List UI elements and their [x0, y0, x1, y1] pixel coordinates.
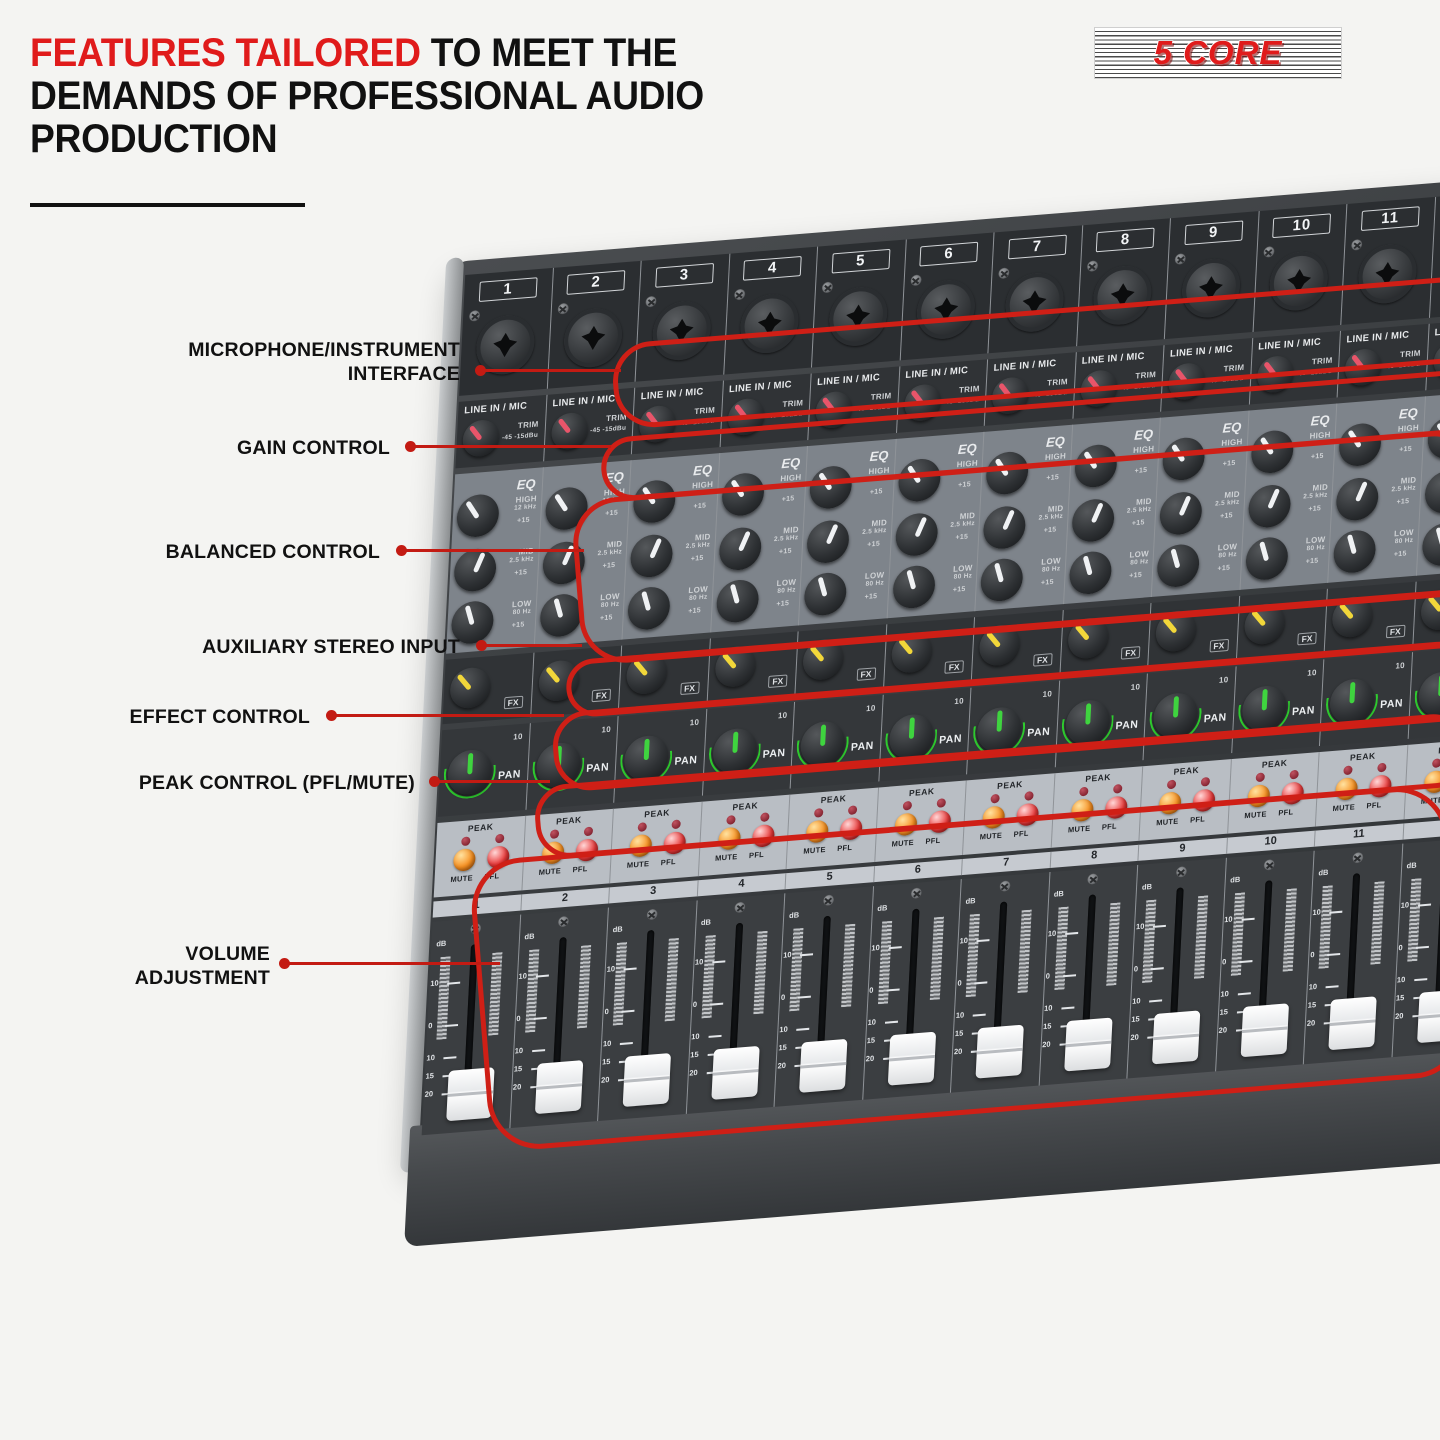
eq-mid-knob[interactable] — [1071, 498, 1115, 544]
fader-tick-label: 20 — [777, 1061, 786, 1071]
gain-trim-knob[interactable] — [1079, 369, 1117, 408]
mute-button[interactable] — [806, 820, 829, 844]
eq-low-freq: 80 Hz — [1395, 537, 1414, 546]
mic-instrument-jack[interactable] — [916, 278, 977, 341]
fader-handle[interactable] — [446, 1067, 494, 1121]
eq-mid-name: MID — [959, 511, 975, 521]
fader-handle[interactable] — [799, 1039, 847, 1093]
pfl-button[interactable] — [1369, 774, 1392, 798]
eq-low-range: +15 — [512, 621, 525, 629]
knob-pointer-icon — [986, 631, 1002, 648]
fader-tick-icon — [531, 1067, 544, 1070]
pan-knob[interactable] — [623, 734, 669, 782]
fader-track[interactable] — [1081, 894, 1095, 1042]
eq-low-freq: 80 Hz — [777, 586, 796, 595]
knob-pointer-icon — [1355, 481, 1368, 502]
mute-caption: MUTE — [1332, 802, 1355, 813]
fader-tick-label: 15 — [1043, 1021, 1052, 1031]
fx-aux-knob[interactable] — [1243, 602, 1285, 646]
pan-knob[interactable] — [1417, 670, 1440, 718]
fader-tick-label: 15 — [602, 1057, 611, 1067]
fader-handle[interactable] — [1064, 1017, 1112, 1071]
fader-scale: 100101520 — [693, 926, 726, 1069]
eq-low-name: LOW — [865, 570, 885, 581]
pfl-caption: PFL — [1366, 800, 1381, 810]
eq-mid-knob[interactable] — [1423, 469, 1440, 515]
fader-track[interactable] — [1258, 880, 1272, 1028]
fader-handle[interactable] — [623, 1053, 671, 1107]
pan-label: PAN — [851, 740, 874, 754]
fader-tick-label: 10 — [1308, 982, 1317, 992]
fader-handle[interactable] — [975, 1025, 1023, 1079]
eq-mid-knob[interactable] — [806, 519, 850, 565]
eq-high-freq: 12 kHz — [867, 475, 890, 484]
mic-instrument-jack[interactable] — [828, 285, 889, 348]
pan-range-10: 10 — [1219, 675, 1229, 685]
channel-strip-pan: PAN10 — [702, 702, 795, 796]
fx-aux-knob[interactable] — [978, 624, 1020, 668]
trim-label-text: TRIM — [1047, 377, 1068, 388]
db-unit-label: dB — [1318, 868, 1328, 878]
peak-label: PEAK — [790, 791, 878, 808]
channel-strip-fx: FX — [1236, 589, 1327, 661]
channel-strip-fader-number: 5 — [786, 866, 875, 889]
eq-high-name: HIGH — [1398, 423, 1420, 434]
knob-pointer-icon — [545, 667, 561, 684]
fx-aux-knob[interactable] — [449, 666, 491, 710]
gain-trim-knob[interactable] — [727, 397, 765, 436]
eq-mid-knob[interactable] — [1335, 476, 1379, 522]
leader-line-2 — [411, 445, 611, 448]
fader-track[interactable] — [640, 930, 654, 1078]
fx-label: FX — [680, 682, 699, 696]
eq-low-name: LOW — [600, 592, 620, 603]
pan-range-10: 10 — [690, 718, 700, 728]
peak-label: PEAK — [613, 805, 701, 822]
pan-ring-icon — [1060, 694, 1114, 751]
fader-scale: 100101520 — [604, 933, 637, 1076]
eq-low-knob[interactable] — [715, 578, 759, 624]
fader-channel-number: 3 — [609, 880, 697, 902]
fader-tick-label: 20 — [954, 1047, 963, 1057]
fx-label: FX — [503, 696, 522, 710]
eq-low-name: LOW — [688, 584, 708, 595]
db-unit-label: dB — [524, 932, 534, 942]
channel-strip-peak: PEAKMUTEPFL — [434, 816, 526, 898]
eq-high-knob[interactable] — [544, 486, 588, 532]
eq-low-range: +15 — [1129, 572, 1142, 580]
eq-high-knob[interactable] — [985, 450, 1029, 496]
fader-tick-label: 10 — [867, 1017, 876, 1027]
knob-pointer-icon — [1085, 703, 1091, 725]
fx-aux-knob[interactable] — [802, 638, 844, 682]
mute-caption: MUTE — [803, 845, 826, 856]
mute-button[interactable] — [1159, 791, 1182, 815]
eq-mid-knob[interactable] — [982, 505, 1026, 551]
pfl-button[interactable] — [575, 838, 598, 862]
fader-handle[interactable] — [1417, 989, 1440, 1043]
pfl-caption: PFL — [837, 843, 852, 853]
mixer-front-lip — [404, 1039, 1440, 1247]
mic-instrument-jack[interactable] — [1092, 264, 1153, 327]
pan-range-10: 10 — [513, 732, 523, 742]
eq-low-knob[interactable] — [627, 585, 671, 631]
pan-knob[interactable] — [888, 713, 934, 761]
eq-high-name: HIGH — [868, 466, 890, 477]
eq-low-knob[interactable] — [892, 564, 936, 610]
leader-line-1 — [481, 369, 621, 372]
fader-tick-label: 0 — [428, 1021, 433, 1030]
pfl-button[interactable] — [751, 824, 774, 848]
eq-high-knob[interactable] — [721, 472, 765, 518]
screw-icon — [734, 901, 746, 913]
fx-aux-knob[interactable] — [1067, 616, 1109, 660]
channel-strip-fader: dB100101520 — [951, 872, 1050, 1093]
knob-pointer-icon — [1250, 610, 1266, 627]
fader-channel-number: 7 — [962, 852, 1050, 874]
outline-gain-control — [599, 367, 1440, 502]
pfl-button[interactable] — [1104, 796, 1127, 820]
mic-instrument-jack[interactable] — [1357, 242, 1418, 305]
knob-pointer-icon — [1002, 509, 1015, 530]
fader-meter-left-icon — [613, 942, 627, 1025]
gain-trim-knob[interactable] — [1432, 341, 1440, 380]
mic-instrument-jack[interactable] — [563, 306, 624, 369]
channel-strip-fx: FX — [531, 646, 622, 718]
channel-strip-peak: PEAKMUTEPFL — [787, 787, 879, 869]
channel-strip-pan: PAN10 — [1320, 652, 1413, 746]
channel-number: 8 — [1096, 228, 1155, 253]
fader-tick-label: 0 — [957, 978, 962, 987]
channel-strip-jack: 11 — [1341, 197, 1435, 325]
eq-low-freq: 80 Hz — [512, 608, 531, 617]
fader-tick-icon — [442, 1074, 455, 1077]
channel-strip-eq: EQHIGH12 kHz+15MID2.5 kHz+15LOW80 Hz+15 — [799, 439, 896, 625]
mute-button[interactable] — [541, 841, 564, 865]
fader-tick-label: 10 — [603, 1039, 612, 1049]
eq-mid-freq: 2.5 kHz — [686, 541, 711, 550]
gain-trim-knob[interactable] — [991, 376, 1029, 415]
fader-channel-number: 12 — [1403, 816, 1440, 838]
peak-label: PEAK — [525, 812, 613, 829]
eq-low-name: LOW — [776, 577, 796, 588]
fader-track[interactable] — [905, 909, 919, 1057]
peak-led-icon — [461, 836, 470, 846]
mute-button[interactable] — [894, 812, 917, 836]
channel-strip-peak: PEAKMUTEPFL — [610, 802, 702, 884]
pfl-button[interactable] — [1281, 781, 1304, 805]
line-in-mic-label: LINE IN / MIC — [1170, 344, 1233, 360]
pfl-button[interactable] — [840, 817, 863, 841]
eq-high-knob[interactable] — [1073, 443, 1117, 489]
fader-tick-icon — [532, 1049, 545, 1052]
fader-tick-label: 15 — [1308, 1000, 1317, 1010]
eq-high-knob[interactable] — [1250, 429, 1294, 475]
channel-strip-pan: PAN10 — [879, 688, 972, 782]
eq-mid-knob[interactable] — [894, 512, 938, 558]
fader-meter-left-icon — [878, 921, 892, 1004]
pfl-button[interactable] — [928, 810, 951, 834]
fader-tick-label: 10 — [695, 957, 704, 967]
eq-low-knob[interactable] — [1068, 550, 1112, 596]
mute-caption: MUTE — [891, 838, 914, 849]
fx-aux-knob[interactable] — [1155, 609, 1197, 653]
channel-strip-fader-number: 1 — [433, 894, 522, 917]
fader-track[interactable] — [552, 937, 566, 1085]
eq-high-knob[interactable] — [456, 493, 500, 539]
pfl-button[interactable] — [1192, 788, 1215, 812]
fader-tick-icon — [1325, 1003, 1338, 1006]
pan-knob[interactable] — [976, 706, 1022, 754]
fader-meter-left-icon — [1142, 900, 1156, 983]
pan-knob[interactable] — [711, 727, 757, 775]
fx-aux-knob[interactable] — [1420, 588, 1440, 632]
fader-tick-icon — [712, 960, 725, 963]
fx-aux-knob[interactable] — [714, 645, 756, 689]
fader-tick-icon — [530, 1085, 543, 1088]
eq-mid-name: MID — [871, 518, 887, 528]
peak-led-icon — [760, 812, 769, 822]
pfl-button[interactable] — [1016, 803, 1039, 827]
fader-handle[interactable] — [534, 1060, 582, 1114]
fader-tick-icon — [708, 1035, 721, 1038]
channel-strip-pan: PAN10 — [1232, 659, 1325, 753]
db-unit-label: dB — [701, 917, 711, 927]
mute-button[interactable] — [718, 827, 741, 851]
eq-mid-knob[interactable] — [453, 547, 497, 593]
eq-mid-knob[interactable] — [1247, 483, 1291, 529]
peak-led-icon — [583, 827, 592, 837]
mute-button[interactable] — [1335, 777, 1358, 801]
eq-high-range: +15 — [517, 517, 530, 525]
fader-tick-icon — [1148, 1018, 1161, 1021]
mic-instrument-jack[interactable] — [1269, 250, 1330, 313]
mute-caption: MUTE — [1244, 809, 1267, 820]
fader-handle[interactable] — [1240, 1003, 1288, 1057]
fader-meter-left-icon — [966, 914, 980, 997]
knob-pointer-icon — [1435, 526, 1440, 547]
gain-trim-knob[interactable] — [1168, 362, 1206, 401]
fader-tick-label: 0 — [604, 1007, 609, 1016]
fader-tick-icon — [888, 946, 901, 949]
eq-mid-name: MID — [783, 525, 799, 535]
gain-trim-knob[interactable] — [1256, 355, 1294, 394]
eq-low-knob[interactable] — [539, 593, 583, 639]
screw-icon — [1176, 866, 1188, 878]
eq-mid-range: +15 — [1396, 498, 1409, 506]
channel-strip-fx: FX — [884, 617, 975, 689]
fader-scale: 100101520 — [1398, 869, 1431, 1012]
pfl-button[interactable] — [663, 831, 686, 855]
fader-tick-icon — [706, 1071, 719, 1074]
row-pan-effect: PAN10PAN10PAN10PAN10PAN10PAN10PAN10PAN10… — [438, 645, 1440, 817]
knob-pointer-icon — [998, 383, 1012, 399]
fader-tick-icon — [1414, 978, 1427, 981]
channel-strip-fader: dB100101520 — [686, 893, 785, 1114]
fader-channel-number: 6 — [874, 859, 962, 881]
mic-instrument-jack[interactable] — [1004, 271, 1065, 334]
outline-mic-interface — [610, 274, 1440, 430]
mic-instrument-jack[interactable] — [739, 292, 800, 355]
db-unit-label: dB — [436, 939, 446, 949]
channel-strip-pan: PAN10 — [1408, 645, 1440, 739]
fader-tick-icon — [971, 1050, 984, 1053]
peak-led-icon — [1167, 780, 1176, 790]
pan-knob[interactable] — [1241, 684, 1287, 732]
pan-knob[interactable] — [1153, 692, 1199, 740]
fader-tick-label: 0 — [693, 1000, 698, 1009]
fader-tick-icon — [1059, 1043, 1072, 1046]
eq-low-knob[interactable] — [1244, 536, 1288, 582]
fader-handle[interactable] — [1152, 1010, 1200, 1064]
pfl-caption: PFL — [1013, 829, 1028, 839]
fader-handle[interactable] — [887, 1032, 935, 1086]
channel-strip-trim: LINE IN / MICTRIM-45 -15dBu — [1073, 345, 1165, 419]
eq-low-knob[interactable] — [1156, 543, 1200, 589]
eq-mid-knob[interactable] — [541, 540, 585, 586]
pan-ring-icon — [531, 737, 585, 794]
gain-trim-knob[interactable] — [903, 383, 941, 422]
channel-strip-eq: EQHIGH12 kHz+15MID2.5 kHz+15LOW80 Hz+15 — [1416, 389, 1440, 575]
eq-low-knob[interactable] — [980, 557, 1024, 603]
eq-high-range: +15 — [958, 481, 971, 489]
fx-aux-knob[interactable] — [890, 631, 932, 675]
mic-instrument-jack[interactable] — [651, 299, 712, 362]
fader-tick-label: 10 — [1136, 922, 1145, 932]
gain-trim-knob[interactable] — [1344, 348, 1382, 387]
pan-knob[interactable] — [1064, 699, 1110, 747]
pan-knob[interactable] — [1329, 677, 1375, 725]
fader-track[interactable] — [728, 923, 742, 1071]
fader-track[interactable] — [464, 944, 478, 1092]
mute-caption: MUTE — [1156, 816, 1179, 827]
channel-strip-trim: LINE IN / MICTRIM-45 -15dBu — [720, 374, 812, 448]
mute-button[interactable] — [453, 848, 476, 872]
pfl-button[interactable] — [487, 845, 510, 869]
channel-strip-jack: 1 — [459, 268, 553, 396]
trim-label-text: TRIM — [782, 398, 803, 409]
fader-tick-icon — [447, 982, 460, 985]
channel-strip-fx: FX — [1413, 575, 1440, 647]
eq-mid-knob[interactable] — [1159, 491, 1203, 537]
mute-button[interactable] — [1423, 770, 1440, 794]
eq-high-range: +15 — [1399, 446, 1412, 454]
fader-track[interactable] — [816, 916, 830, 1064]
fx-label: FX — [768, 674, 787, 688]
screw-icon — [646, 909, 658, 921]
screw-icon — [998, 267, 1010, 279]
mute-button[interactable] — [629, 834, 652, 858]
fader-tick-label: 15 — [866, 1036, 875, 1046]
outline-aux-stereo — [564, 587, 1440, 718]
fader-tick-label: 10 — [1397, 975, 1406, 985]
fader-tick-label: 10 — [1220, 989, 1229, 999]
channel-strip-fader: dB100101520 — [1304, 844, 1403, 1065]
line-in-mic-label: LINE IN / MIC — [640, 386, 703, 402]
eq-high-knob[interactable] — [1426, 415, 1440, 461]
gain-trim-knob[interactable] — [638, 404, 676, 443]
fader-track[interactable] — [1169, 887, 1183, 1035]
fader-track[interactable] — [1434, 866, 1440, 1014]
peak-led-icon — [1289, 770, 1298, 780]
mute-caption: MUTE — [627, 859, 650, 870]
mute-button[interactable] — [1247, 784, 1270, 808]
line-in-mic-label: LINE IN / MIC — [817, 372, 880, 388]
pan-range-10: 10 — [1131, 682, 1141, 692]
channel-strip-fader-number: 2 — [521, 887, 610, 910]
eq-low-freq: 80 Hz — [1218, 551, 1237, 560]
channel-strip-fx: FX — [1060, 603, 1151, 675]
fader-channel-number: 2 — [521, 887, 609, 909]
eq-mid-knob[interactable] — [630, 533, 674, 579]
eq-high-freq: 12 kHz — [1131, 453, 1154, 462]
brand-logo: 5 CORE — [1094, 27, 1342, 79]
pan-label: PAN — [762, 747, 785, 761]
fader-tick-icon — [1326, 985, 1339, 988]
fx-aux-knob[interactable] — [626, 652, 668, 696]
pfl-caption: PFL — [1278, 807, 1293, 817]
eq-high-name: HIGH — [1133, 444, 1155, 455]
fx-aux-knob[interactable] — [537, 659, 579, 703]
channel-strip-fader-number: 6 — [874, 859, 963, 882]
channel-strip-fader: dB100101520 — [863, 879, 962, 1100]
fader-meter-left-icon — [525, 949, 539, 1032]
pfl-caption: PFL — [749, 850, 764, 860]
eq-high-knob[interactable] — [1338, 422, 1382, 468]
mute-button[interactable] — [982, 805, 1005, 829]
fader-track[interactable] — [993, 902, 1007, 1050]
channel-strip-fader: dB100101520 — [510, 907, 609, 1128]
eq-low-knob[interactable] — [803, 571, 847, 617]
gain-trim-knob[interactable] — [815, 390, 853, 429]
channel-strip-jack: 8 — [1077, 218, 1171, 346]
eq-label: EQ — [693, 462, 713, 479]
fader-tick-label: 10 — [779, 1025, 788, 1035]
eq-high-range: +15 — [1134, 467, 1147, 475]
eq-high-knob[interactable] — [1162, 436, 1206, 482]
fader-handle[interactable] — [711, 1046, 759, 1100]
eq-high-knob[interactable] — [897, 457, 941, 503]
eq-mid-range: +15 — [602, 562, 615, 570]
eq-high-knob[interactable] — [809, 465, 853, 511]
eq-low-range: +15 — [600, 614, 613, 622]
mic-instrument-jack[interactable] — [1180, 257, 1241, 320]
fader-track[interactable] — [1346, 873, 1360, 1021]
pan-label: PAN — [674, 754, 697, 768]
knob-pointer-icon — [642, 486, 657, 505]
screw-icon — [911, 887, 923, 899]
eq-label: EQ — [1046, 433, 1066, 450]
eq-high-knob[interactable] — [632, 479, 676, 525]
mute-button[interactable] — [1070, 798, 1093, 822]
eq-low-name: LOW — [953, 563, 973, 574]
eq-low-knob[interactable] — [1333, 529, 1377, 575]
row-mic-instrument-jacks: 123456789101112 — [459, 190, 1440, 396]
gain-trim-knob[interactable] — [462, 419, 500, 458]
eq-low-knob[interactable] — [1421, 522, 1440, 568]
eq-high-freq: 12 kHz — [1220, 446, 1243, 455]
trim-range-text: -45 -15dBu — [766, 410, 802, 420]
knob-pointer-icon — [820, 724, 826, 746]
pan-label: PAN — [586, 761, 609, 775]
fx-aux-knob[interactable] — [1331, 595, 1373, 639]
eq-mid-range: +15 — [1043, 526, 1056, 534]
eq-mid-knob[interactable] — [718, 526, 762, 572]
channel-strip-fader-number: 12 — [1403, 816, 1440, 839]
fader-handle[interactable] — [1328, 996, 1376, 1050]
pan-knob[interactable] — [800, 720, 846, 768]
pan-knob[interactable] — [447, 748, 493, 796]
